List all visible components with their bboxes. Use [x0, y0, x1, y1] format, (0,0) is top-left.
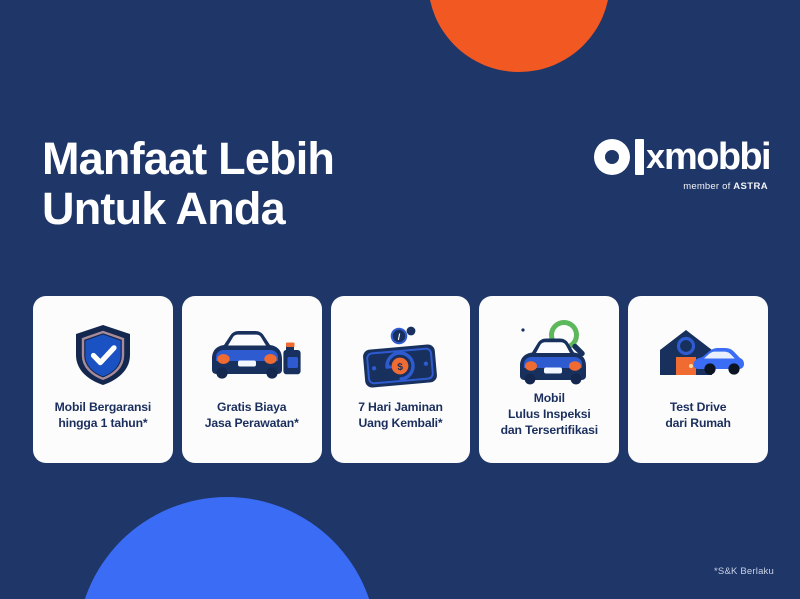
logo-tagline-prefix: member of	[683, 181, 733, 192]
benefit-card-free-service[interactable]: Gratis Biaya Jasa Perawatan*	[182, 296, 322, 463]
orange-circle-decoration	[428, 0, 610, 72]
benefit-card-label: Mobil Lulus Inspeksi dan Tersertifikasi	[495, 390, 604, 439]
logo-o-icon	[594, 139, 630, 175]
benefits-card-row: Mobil Bergaransi hingga 1 tahun*	[33, 296, 768, 463]
benefit-card-warranty[interactable]: Mobil Bergaransi hingga 1 tahun*	[33, 296, 173, 463]
promo-banner: Manfaat Lebih Untuk Anda x mobbi member …	[0, 0, 800, 599]
blue-circle-decoration	[77, 497, 377, 599]
logo-tagline-brand: ASTRA	[733, 181, 768, 192]
logo-x-letter: x	[646, 140, 664, 174]
shield-check-icon	[72, 318, 134, 392]
benefit-card-inspected[interactable]: Mobil Lulus Inspeksi dan Tersertifikasi	[479, 296, 619, 463]
logo-wordmark: x mobbi	[594, 136, 770, 178]
benefit-card-money-back[interactable]: / $ 7 Hari Jaminan Uang Kembali*	[331, 296, 471, 463]
terms-footnote: *S&K Berlaku	[714, 566, 774, 577]
benefit-card-label: Gratis Biaya Jasa Perawatan*	[199, 399, 305, 431]
benefit-card-home-test-drive[interactable]: Test Drive dari Rumah	[628, 296, 768, 463]
benefit-card-label: Test Drive dari Rumah	[659, 399, 737, 431]
logo-tagline: member of ASTRA	[594, 181, 770, 192]
brand-logo: x mobbi member of ASTRA	[594, 136, 770, 192]
car-magnifier-icon	[506, 318, 592, 390]
benefit-card-label: 7 Hari Jaminan Uang Kembali*	[352, 399, 449, 431]
benefit-card-label: Mobil Bergaransi hingga 1 tahun*	[49, 399, 157, 431]
logo-mobbi-text: mobbi	[664, 138, 770, 176]
money-back-icon: / $	[354, 318, 446, 392]
logo-bar-icon	[635, 139, 644, 175]
page-title: Manfaat Lebih Untuk Anda	[42, 134, 334, 234]
car-oil-bottle-icon	[202, 318, 302, 392]
house-car-icon	[650, 318, 746, 392]
